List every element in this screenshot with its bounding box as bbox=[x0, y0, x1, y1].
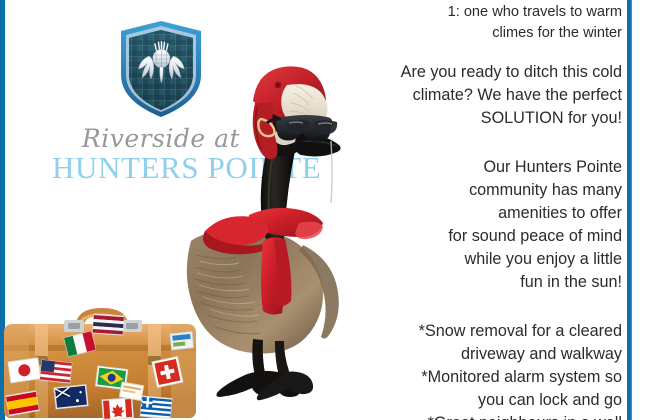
logo-script-line: Riverside at bbox=[52, 126, 270, 151]
poster-canvas: Riverside at HUNTERS POINTE bbox=[0, 0, 650, 420]
advert-copy-column: 1: one who travels to warm climes for th… bbox=[347, 2, 622, 420]
feature-list-text: *Snow removal for a cleared driveway and… bbox=[347, 320, 622, 420]
amenity-intro-block: Our Hunters Pointe community has many am… bbox=[347, 156, 622, 294]
headline-hook-block: Are you ready to ditch this cold climate… bbox=[347, 61, 622, 130]
headline-hook-text: Are you ready to ditch this cold climate… bbox=[347, 61, 622, 130]
logo-main-line: HUNTERS POINTE bbox=[52, 152, 270, 185]
snowbird-definition-text: 1: one who travels to warm climes for th… bbox=[347, 2, 622, 44]
snowbird-definition-block: 1: one who travels to warm climes for th… bbox=[347, 2, 622, 44]
amenity-intro-text: Our Hunters Pointe community has many am… bbox=[347, 156, 622, 294]
right-accent-rule bbox=[627, 0, 632, 420]
left-accent-rule bbox=[0, 0, 5, 420]
thistle-shield-emblem bbox=[115, 18, 207, 120]
vintage-suitcase-illustration bbox=[2, 300, 212, 420]
brand-logo-lockup[interactable]: Riverside at HUNTERS POINTE bbox=[52, 18, 270, 178]
feature-list-block: *Snow removal for a cleared driveway and… bbox=[347, 320, 622, 420]
